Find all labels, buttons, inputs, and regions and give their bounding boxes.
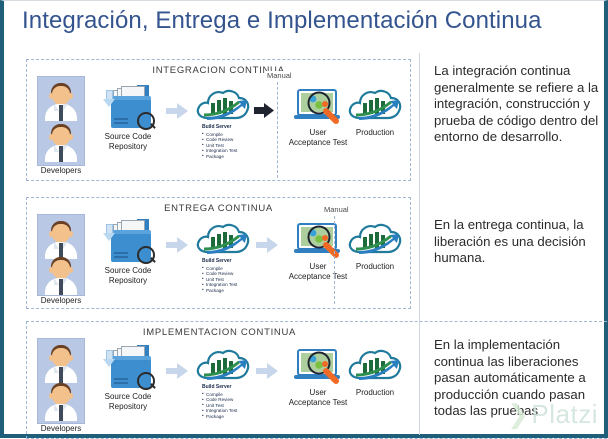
manual-label: Manual [322, 205, 351, 214]
manual-label: Manual [265, 71, 294, 80]
build-server-list-1: Build Server Compile Code Review Unit Te… [202, 125, 237, 160]
repository-label: Source Code Repository [95, 266, 161, 286]
developers-label: Developers [33, 166, 89, 175]
build-server-cloud-icon [194, 218, 252, 260]
production-label: Production [342, 262, 408, 272]
repository-icon [101, 344, 155, 390]
user-acceptance-test-icon [292, 344, 344, 386]
developer-avatar-icon [43, 219, 79, 259]
platzi-watermark: ❯Platzi [507, 399, 598, 430]
panel-entrega-continua: ENTREGA CONTINUA Developers [26, 197, 411, 309]
node-build-server-1: Build Server Compile Code Review Unit Te… [190, 84, 256, 126]
production-cloud-icon [346, 218, 404, 260]
production-cloud-icon [346, 344, 404, 386]
platzi-leaf-icon: ❯ [507, 399, 529, 430]
developers-box-2 [37, 214, 85, 296]
panel-title-1: INTEGRACION CONTINUA [27, 65, 410, 76]
build-server-cloud-icon [194, 84, 252, 126]
panel-title-3: IMPLEMENTACION CONTINUA [27, 327, 412, 338]
developer-avatar-icon [43, 343, 79, 383]
repository-label: Source Code Repository [95, 132, 161, 152]
production-label: Production [342, 388, 408, 398]
node-production-3: Production [342, 344, 408, 398]
developers-label: Developers [33, 424, 89, 433]
node-source-code-repository-2: Source Code Repository [95, 218, 161, 286]
developers-box-1 [37, 76, 85, 166]
build-server-list-3: Build Server Compile Code Review Unit Te… [202, 385, 237, 420]
node-source-code-repository-3: Source Code Repository [95, 344, 161, 412]
developer-avatar-icon [43, 81, 79, 121]
developer-avatar-icon [43, 381, 79, 421]
node-production-1: Production [342, 84, 408, 138]
node-production-2: Production [342, 218, 408, 272]
description-entrega-continua: En la entrega continua, la liberación es… [434, 217, 606, 267]
node-build-server-2: Build Server Compile Code Review Unit Te… [190, 218, 256, 260]
user-acceptance-test-icon [292, 218, 344, 260]
build-server-list-2: Build Server Compile Code Review Unit Te… [202, 259, 237, 294]
production-label: Production [342, 128, 408, 138]
build-server-cloud-icon [194, 344, 252, 386]
slide-frame: Integración, Entrega e Implementación Co… [0, 0, 608, 438]
developer-avatar-icon [43, 255, 79, 295]
page-title: Integración, Entrega e Implementación Co… [22, 7, 542, 35]
node-source-code-repository-1: Source Code Repository [95, 84, 161, 152]
panel-integracion-continua: INTEGRACION CONTINUA Developers [26, 59, 411, 181]
user-acceptance-test-icon [292, 84, 344, 126]
node-build-server-3: Build Server Compile Code Review Unit Te… [190, 344, 256, 386]
description-integracion-continua: La integración continua generalmente se … [434, 63, 606, 146]
developers-box-3 [37, 338, 85, 424]
repository-label: Source Code Repository [95, 392, 161, 412]
developer-avatar-icon [43, 122, 79, 162]
repository-icon [101, 218, 155, 264]
developers-label: Developers [33, 296, 89, 305]
panel-title-2: ENTREGA CONTINUA [27, 203, 410, 214]
production-cloud-icon [346, 84, 404, 126]
repository-icon [101, 84, 155, 130]
